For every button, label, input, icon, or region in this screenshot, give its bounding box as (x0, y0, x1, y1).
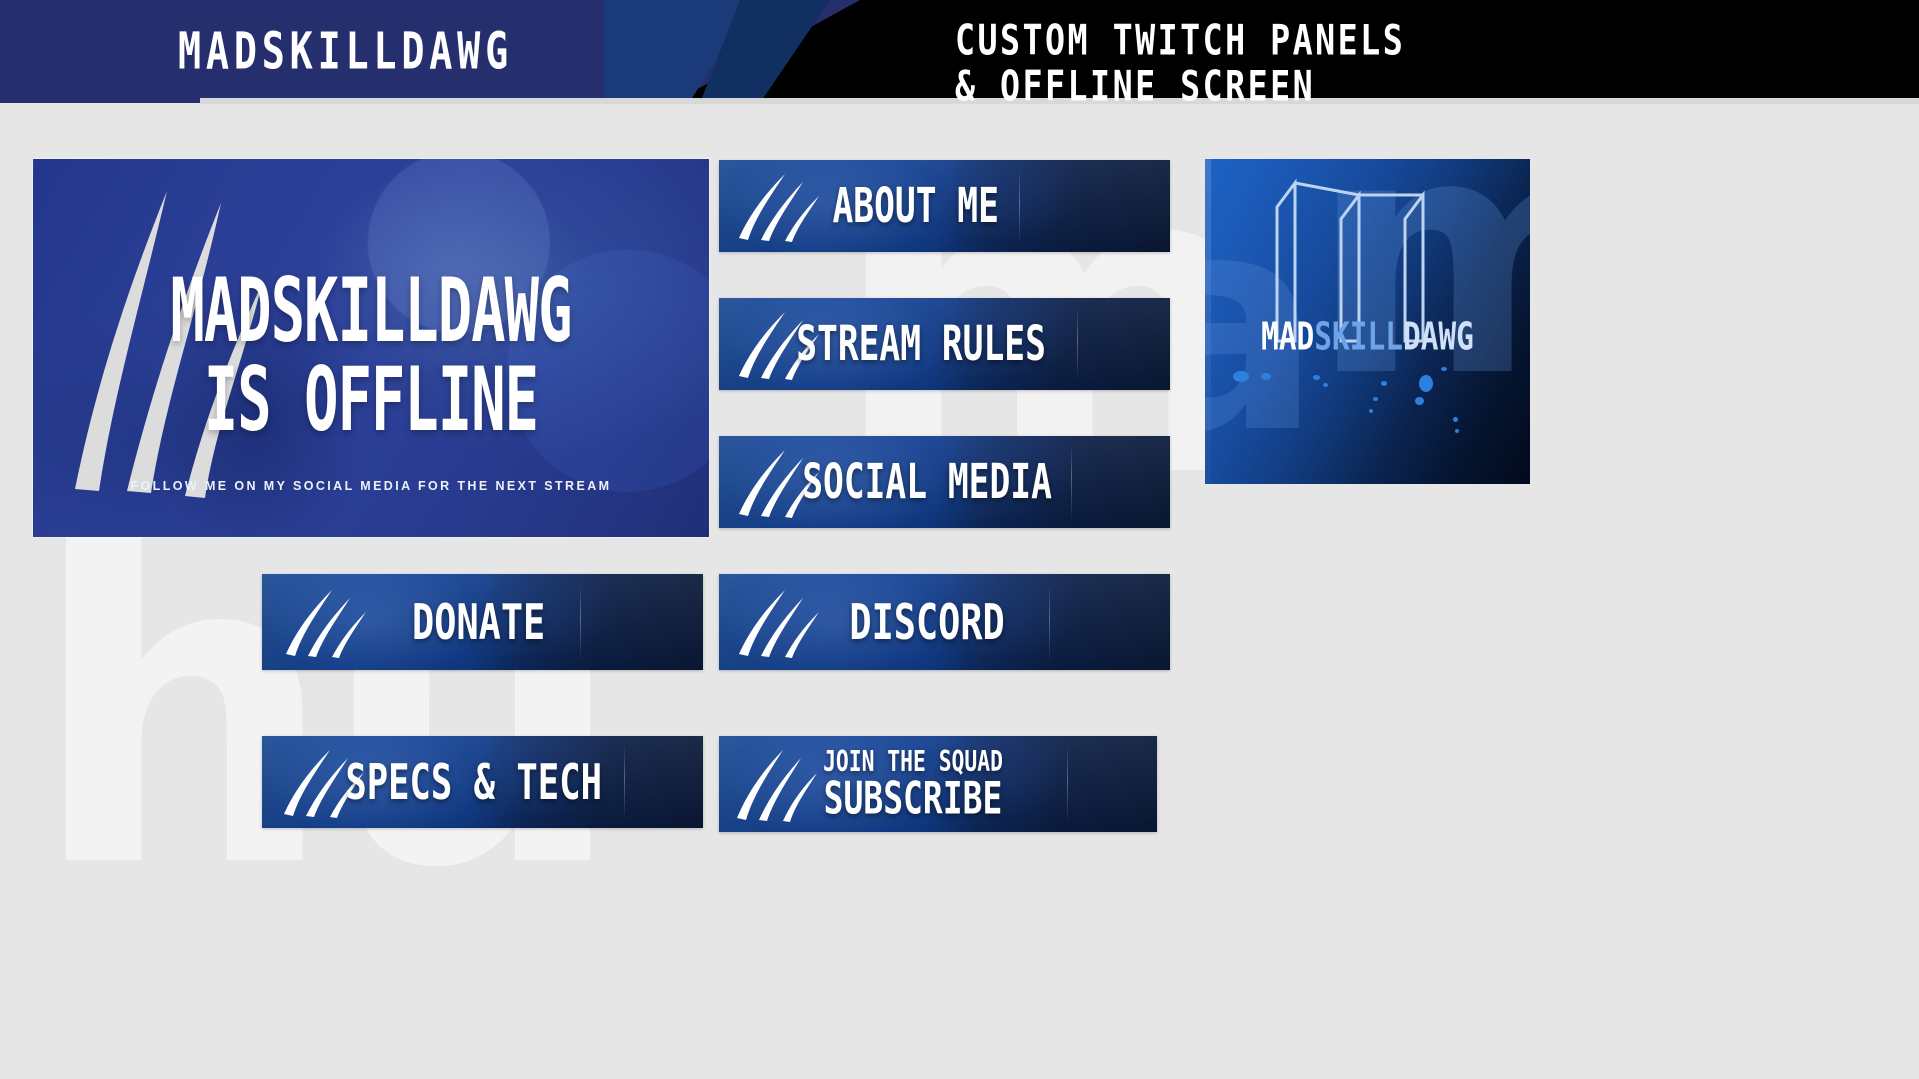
header-title-block: CUSTOM TWITCH PANELS & OFFLINE SCREEN (955, 14, 1414, 103)
offline-name-text: MADSKILLDAWG (60, 266, 682, 356)
offline-text-block: MADSKILLDAWG IS OFFLINE (33, 279, 709, 431)
logo-panel-preview[interactable]: a m MADSKILLDAWG (1205, 159, 1530, 484)
button-divider (1067, 745, 1068, 824)
paint-splatter (1455, 429, 1459, 433)
logo-word-mad: MAD (1261, 315, 1314, 360)
paint-splatter (1419, 375, 1433, 392)
panel-label-about-me: ABOUT ME (832, 179, 998, 234)
logo-wordmark: MADSKILLDAWG (1213, 315, 1522, 360)
offline-subtitle-text: FOLLOW ME ON MY SOCIAL MEDIA FOR THE NEX… (33, 479, 709, 493)
panel-button-discord[interactable]: DISCORD (719, 574, 1170, 670)
panel-button-subscribe[interactable]: JOIN THE SQUAD SUBSCRIBE (719, 736, 1157, 832)
paint-splatter (1381, 381, 1387, 386)
button-divider (580, 583, 581, 662)
panel-label-social-media: SOCIAL MEDIA (802, 455, 1052, 510)
header-brand-text: MADSKILLDAWG (177, 22, 512, 81)
paint-splatter (1369, 409, 1373, 413)
panel-label-discord: DISCORD (849, 593, 1004, 650)
panel-label-stream-rules: STREAM RULES (796, 317, 1046, 372)
offline-status-text: IS OFFLINE (60, 355, 682, 445)
paint-splatter (1233, 371, 1249, 382)
button-divider (624, 744, 625, 819)
button-divider (1049, 583, 1050, 662)
twitch-graphics-showcase: hu m MADSKILLDAWG CUSTOM TWITCH PANELS &… (0, 0, 1919, 1079)
panel-button-stream-rules[interactable]: STREAM RULES (719, 298, 1170, 390)
logo-word-skill: SKILL (1314, 315, 1403, 360)
panel-button-about-me[interactable]: ABOUT ME (719, 160, 1170, 252)
paint-splatter (1261, 373, 1271, 380)
header-brand: MADSKILLDAWG (0, 0, 690, 103)
paint-splatter (1415, 397, 1424, 405)
offline-screen-preview[interactable]: MADSKILLDAWG IS OFFLINE FOLLOW ME ON MY … (33, 159, 709, 537)
button-divider (1077, 306, 1078, 381)
paint-splatter (1323, 383, 1328, 387)
subscribe-label-stack: JOIN THE SQUAD SUBSCRIBE (813, 750, 1013, 819)
panel-button-donate[interactable]: DONATE (262, 574, 703, 670)
logo-word-dawg: DAWG (1403, 315, 1474, 360)
panel-button-social-media[interactable]: SOCIAL MEDIA (719, 436, 1170, 528)
page-header: MADSKILLDAWG CUSTOM TWITCH PANELS & OFFL… (0, 0, 1919, 103)
panel-label-donate: DONATE (412, 593, 545, 650)
paint-splatter (1441, 367, 1447, 371)
panel-label-subscribe: SUBSCRIBE (816, 775, 1010, 824)
paint-splatter (1373, 397, 1378, 401)
button-divider (1019, 168, 1020, 243)
panel-button-specs-tech[interactable]: SPECS & TECH (262, 736, 703, 828)
paint-splatter (1453, 417, 1458, 422)
button-divider (1071, 444, 1072, 519)
panel-label-specs-tech: SPECS & TECH (345, 754, 602, 811)
paint-splatter (1313, 375, 1320, 380)
header-title-line-2: & OFFLINE SCREEN (955, 60, 1405, 103)
